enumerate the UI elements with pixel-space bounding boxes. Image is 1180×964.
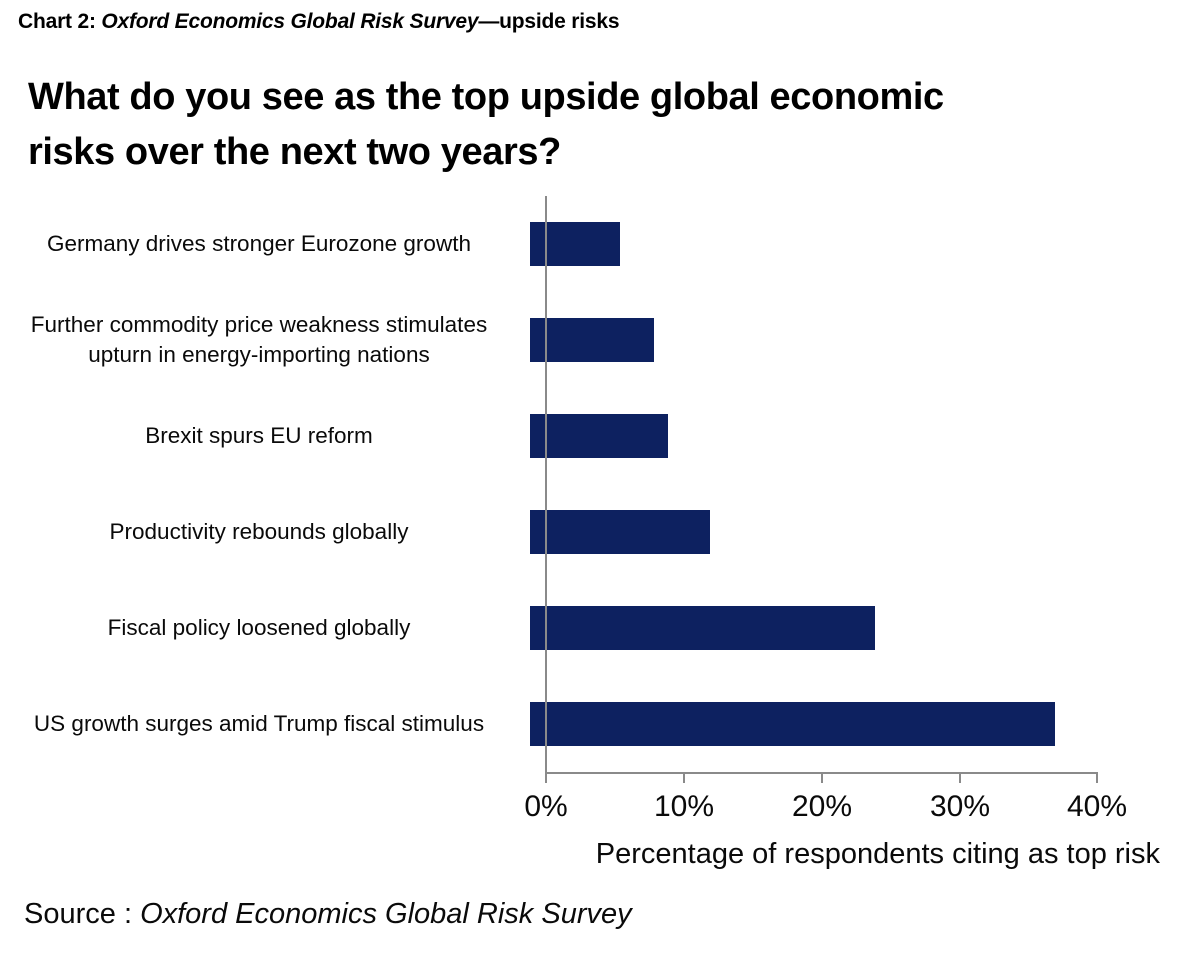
category-label: US growth surges amid Trump fiscal stimu… — [0, 709, 530, 739]
x-axis-title: Percentage of respondents citing as top … — [0, 838, 1160, 871]
bar-cell — [530, 676, 1180, 772]
chart-header-prefix: Chart 2: — [18, 10, 101, 33]
bar[interactable] — [530, 318, 654, 362]
bar-cell — [530, 196, 1180, 292]
bar-rows: Germany drives stronger Eurozone growth … — [0, 196, 1180, 772]
bar-cell — [530, 388, 1180, 484]
bar[interactable] — [530, 222, 620, 266]
bar[interactable] — [530, 606, 875, 650]
chart-row: Fiscal policy loosened globally — [0, 580, 1180, 676]
y-axis-line — [545, 196, 547, 772]
x-axis-tick — [545, 774, 547, 783]
source-note: Source : Oxford Economics Global Risk Su… — [24, 898, 632, 931]
source-label: Source : — [24, 898, 140, 930]
chart-row: US growth surges amid Trump fiscal stimu… — [0, 676, 1180, 772]
bar-cell — [530, 580, 1180, 676]
x-tick-label: 30% — [930, 790, 990, 824]
x-tick-label: 40% — [1067, 790, 1127, 824]
chart-row: Productivity rebounds globally — [0, 484, 1180, 580]
chart-row: Further commodity price weakness stimula… — [0, 292, 1180, 388]
plot-area: Germany drives stronger Eurozone growth … — [0, 196, 1180, 796]
chart-header: Chart 2: Oxford Economics Global Risk Su… — [18, 10, 619, 34]
x-axis-tick — [1096, 774, 1098, 783]
bar[interactable] — [530, 414, 668, 458]
x-tick-label: 10% — [654, 790, 714, 824]
x-tick-label: 0% — [524, 790, 567, 824]
bar[interactable] — [530, 702, 1055, 746]
category-label: Brexit spurs EU reform — [0, 421, 530, 451]
chart-header-survey: Global Risk Survey — [285, 10, 478, 33]
bar[interactable] — [530, 510, 710, 554]
x-tick-label: 20% — [792, 790, 852, 824]
x-axis-tick — [821, 774, 823, 783]
category-label: Fiscal policy loosened globally — [0, 613, 530, 643]
x-axis-tick — [959, 774, 961, 783]
source-reference: Oxford Economics Global Risk Survey — [140, 898, 632, 930]
bar-cell — [530, 484, 1180, 580]
category-label: Productivity rebounds globally — [0, 517, 530, 547]
chart-header-brand: Oxford Economics — [101, 10, 285, 33]
chart-row: Brexit spurs EU reform — [0, 388, 1180, 484]
chart-row: Germany drives stronger Eurozone growth — [0, 196, 1180, 292]
x-axis-tick — [683, 774, 685, 783]
category-label: Germany drives stronger Eurozone growth — [0, 229, 530, 259]
chart-header-suffix: —upside risks — [478, 10, 619, 33]
category-label: Further commodity price weakness stimula… — [0, 310, 530, 369]
chart-title: What do you see as the top upside global… — [28, 70, 1008, 180]
bar-cell — [530, 292, 1180, 388]
